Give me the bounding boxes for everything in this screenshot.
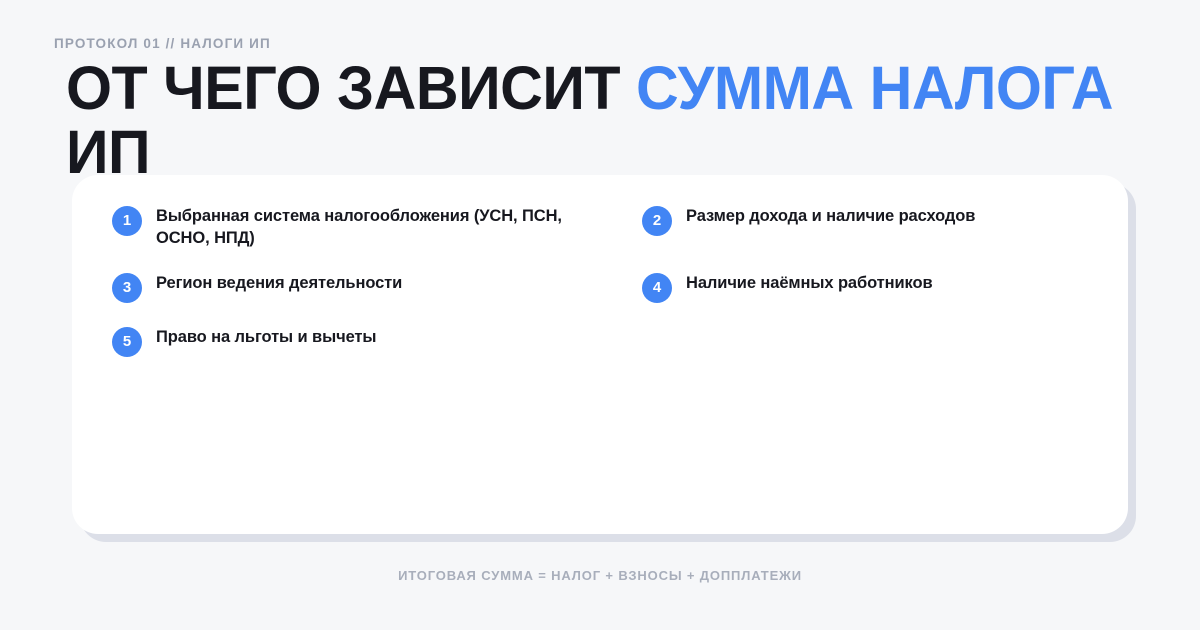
list-item-badge: 3 <box>112 273 142 303</box>
list-item-badge: 1 <box>112 206 142 236</box>
page-title-accent: СУММА НАЛОГА <box>636 54 1113 122</box>
page-title: ОТ ЧЕГО ЗАВИСИТ СУММА НАЛОГА ИП <box>66 56 1114 184</box>
list-item-badge: 2 <box>642 206 672 236</box>
list-item[interactable]: 1 Выбранная система налогообложения (УСН… <box>112 205 642 272</box>
list-item-badge: 5 <box>112 327 142 357</box>
list-item[interactable]: 5 Право на льготы и вычеты <box>112 326 642 380</box>
list-item[interactable]: 4 Наличие наёмных работников <box>642 272 1088 326</box>
list-item-label: Наличие наёмных работников <box>686 272 933 294</box>
footer-formula: ИТОГОВАЯ СУММА = НАЛОГ + ВЗНОСЫ + ДОППЛА… <box>0 568 1200 583</box>
page-title-part-1: ОТ ЧЕГО ЗАВИСИТ <box>66 54 636 122</box>
list-item[interactable]: 3 Регион ведения деятельности <box>112 272 642 326</box>
list-item-badge: 4 <box>642 273 672 303</box>
slide-root: ПРОТОКОЛ 01 // НАЛОГИ ИП ОТ ЧЕГО ЗАВИСИТ… <box>0 0 1200 630</box>
list-item[interactable]: 2 Размер дохода и наличие расходов <box>642 205 1088 272</box>
factors-card: 1 Выбранная система налогообложения (УСН… <box>72 175 1128 534</box>
list-item-label: Право на льготы и вычеты <box>156 326 376 348</box>
eyebrow-label: ПРОТОКОЛ 01 // НАЛОГИ ИП <box>54 36 271 51</box>
list-item-label: Размер дохода и наличие расходов <box>686 205 975 227</box>
list-item-label: Выбранная система налогообложения (УСН, … <box>156 205 576 249</box>
list-item-label: Регион ведения деятельности <box>156 272 402 294</box>
factors-grid: 1 Выбранная система налогообложения (УСН… <box>112 205 1088 380</box>
